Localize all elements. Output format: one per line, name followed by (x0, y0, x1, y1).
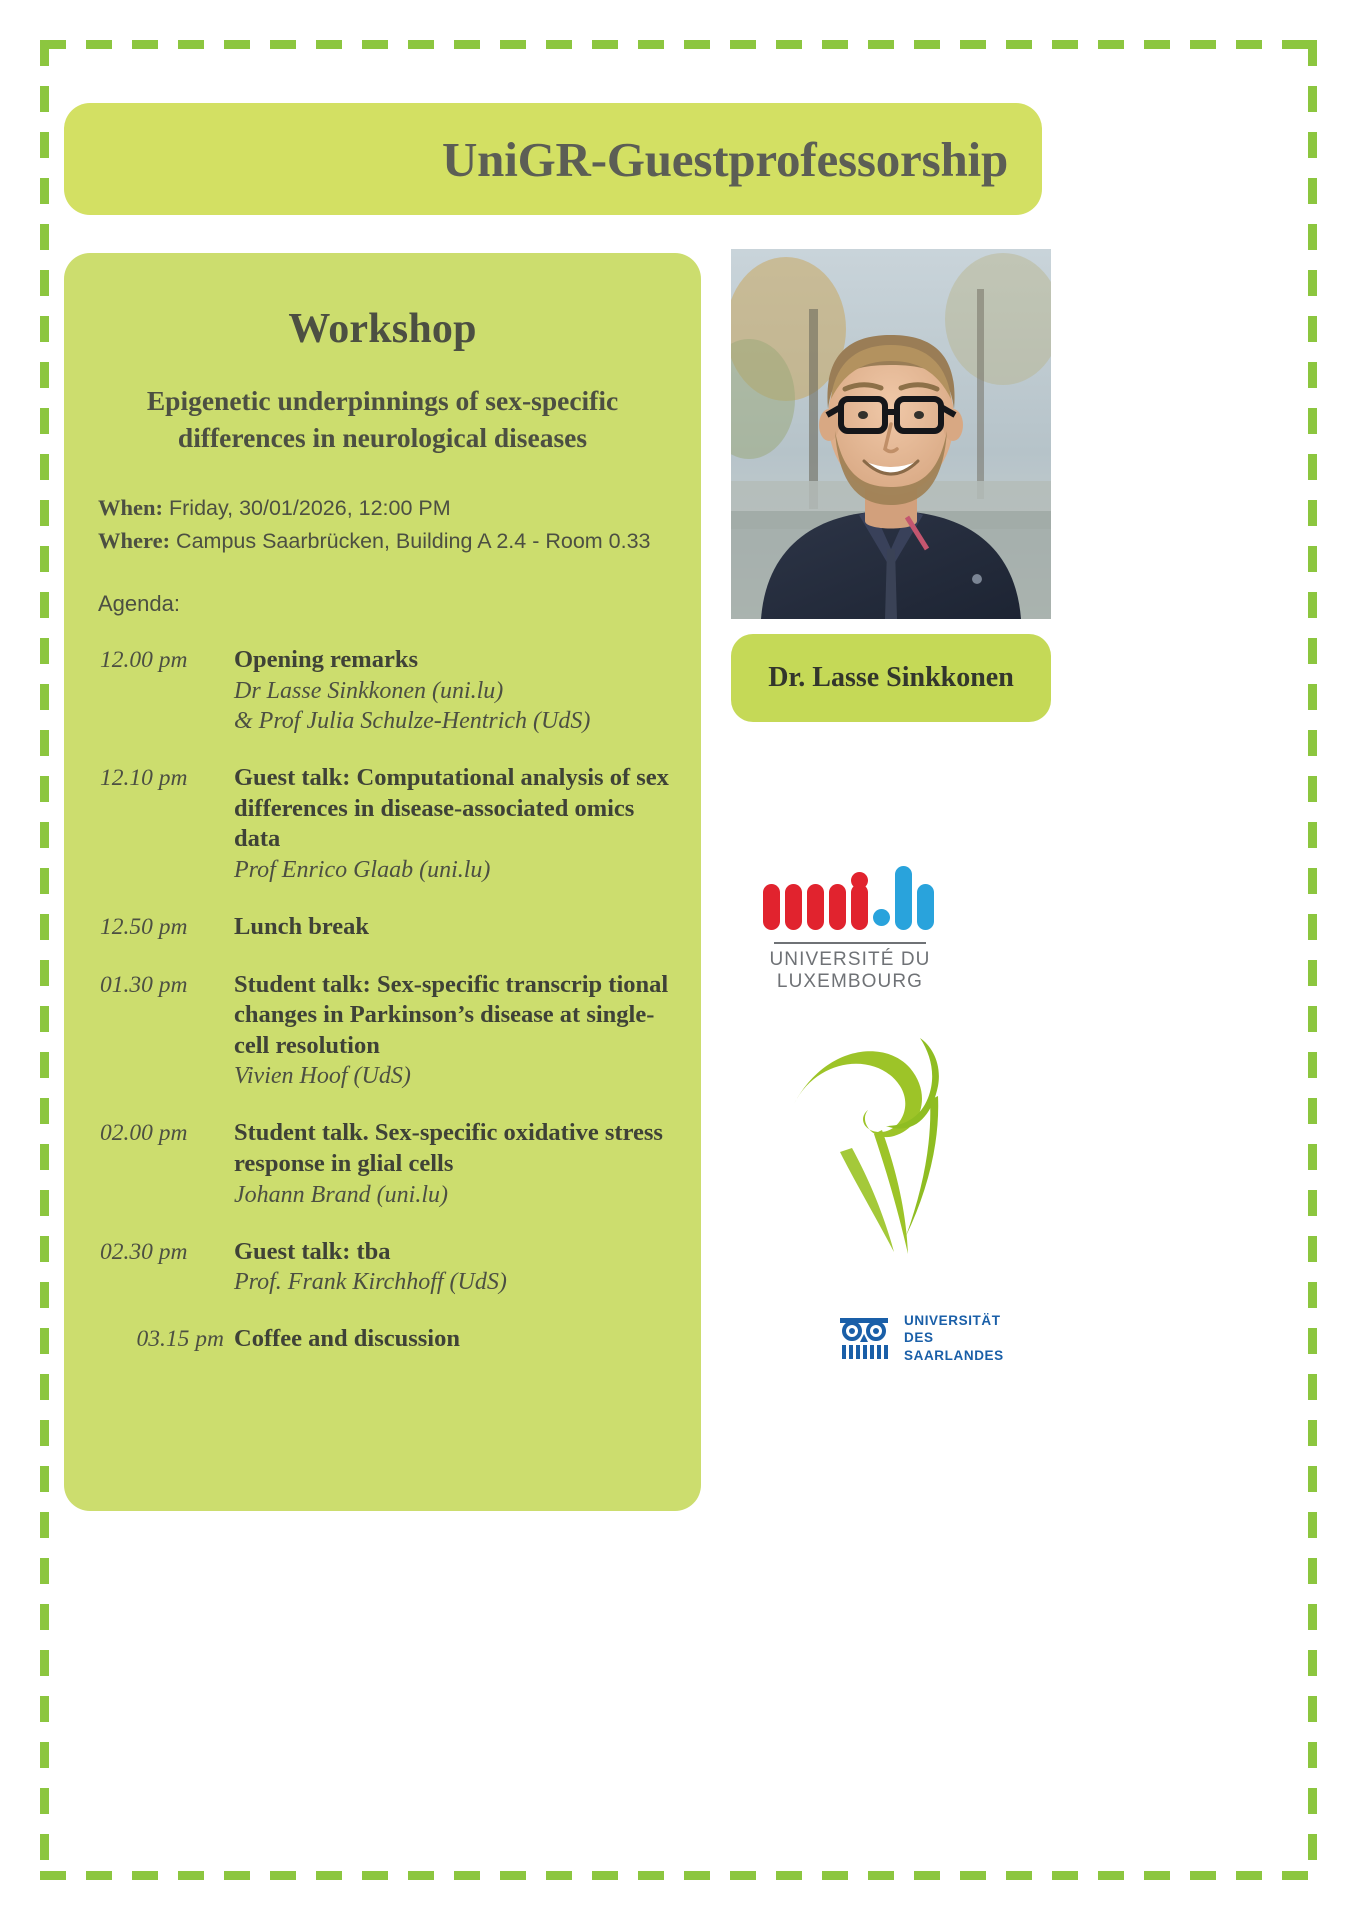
agenda-time: 02.00 pm (100, 1118, 234, 1147)
workshop-title: Epigenetic underpinnings of sex-specific… (96, 383, 669, 456)
owl-icon (836, 1312, 892, 1364)
unilu-subtitle-line1: UNIVERSITÉ DU (750, 949, 950, 971)
agenda-speaker: Prof. Frank Kirchhoff (UdS) (234, 1267, 669, 1297)
agenda-speaker: Johann Brand (uni.lu) (234, 1180, 669, 1210)
agenda-row: 01.30 pm Student talk: Sex-specific tran… (100, 970, 669, 1092)
agenda-row: 12.10 pm Guest talk: Computational analy… (100, 763, 669, 885)
dashed-border-left (40, 40, 49, 1880)
guest-name: Dr. Lasse Sinkkonen (768, 662, 1014, 694)
agenda-row: 12.00 pm Opening remarks Dr Lasse Sinkko… (100, 645, 669, 736)
when-value: Friday, 30/01/2026, 12:00 PM (169, 496, 451, 520)
agenda-time: 01.30 pm (100, 970, 234, 999)
agenda-row: 12.50 pm Lunch break (100, 912, 669, 943)
guest-portrait-photo (731, 249, 1051, 619)
guest-name-badge: Dr. Lasse Sinkkonen (731, 634, 1051, 722)
agenda-time: 02.30 pm (100, 1237, 234, 1266)
agenda-time: 12.00 pm (100, 645, 234, 674)
portrait-illustration (731, 249, 1051, 619)
agenda-list: 12.00 pm Opening remarks Dr Lasse Sinkko… (96, 645, 669, 1355)
agenda-body: Coffee and discussion (234, 1324, 669, 1355)
workshop-kicker: Workshop (96, 305, 669, 353)
agenda-body: Guest talk: Computational analysis of se… (234, 763, 669, 885)
agenda-time: 03.15 pm (100, 1324, 234, 1353)
agenda-row: 03.15 pm Coffee and discussion (100, 1324, 669, 1355)
dashed-border-bottom (40, 1871, 1317, 1880)
agenda-item-title: Guest talk: Computational analysis of se… (234, 763, 669, 855)
uds-line-1: UNIVERSITÄT (904, 1312, 1004, 1329)
poster-root: UniGR-Guestprofessorship Workshop Epigen… (0, 0, 1357, 1920)
swoosh-icon (782, 1030, 972, 1260)
where-value: Campus Saarbrücken, Building A 2.4 - Roo… (176, 529, 650, 553)
agenda-body: Student talk: Sex-specific transcrip tio… (234, 970, 669, 1092)
agenda-row: 02.00 pm Student talk. Sex-specific oxid… (100, 1118, 669, 1209)
event-when-line: When: Friday, 30/01/2026, 12:00 PM (98, 492, 669, 525)
agenda-item-title: Opening remarks (234, 645, 669, 676)
page-title: UniGR-Guestprofessorship (442, 131, 1008, 188)
agenda-speaker: Prof Enrico Glaab (uni.lu) (234, 855, 669, 885)
header-banner: UniGR-Guestprofessorship (64, 103, 1042, 215)
agenda-speaker: & Prof Julia Schulze-Hentrich (UdS) (234, 706, 669, 736)
uds-line-2: DES (904, 1329, 1004, 1346)
where-label: Where: (98, 528, 170, 553)
uds-name-text: UNIVERSITÄT DES SAARLANDES (904, 1312, 1004, 1364)
agenda-item-title: Lunch break (234, 912, 669, 943)
event-details: When: Friday, 30/01/2026, 12:00 PM Where… (96, 492, 669, 557)
unilu-subtitle-line2: LUXEMBOURG (750, 971, 950, 993)
agenda-item-title: Coffee and discussion (234, 1324, 669, 1355)
dashed-border-top (40, 40, 1317, 49)
agenda-row: 02.30 pm Guest talk: tba Prof. Frank Kir… (100, 1237, 669, 1298)
agenda-body: Guest talk: tba Prof. Frank Kirchhoff (U… (234, 1237, 669, 1298)
agenda-body: Student talk. Sex-specific oxidative str… (234, 1118, 669, 1209)
unilu-divider (774, 942, 926, 944)
agenda-body: Lunch break (234, 912, 669, 943)
when-label: When: (98, 495, 163, 520)
agenda-speaker: Dr Lasse Sinkkonen (uni.lu) (234, 676, 669, 706)
unilu-wordmark-icon (763, 866, 938, 938)
main-content-panel: Workshop Epigenetic underpinnings of sex… (64, 253, 701, 1511)
agenda-speaker: Vivien Hoof (UdS) (234, 1061, 669, 1091)
agenda-item-title: Student talk: Sex-specific transcrip tio… (234, 970, 669, 1062)
agenda-label: Agenda: (96, 591, 669, 617)
event-where-line: Where: Campus Saarbrücken, Building A 2.… (98, 525, 669, 558)
agenda-item-title: Student talk. Sex-specific oxidative str… (234, 1118, 669, 1179)
green-swoosh-decoration (782, 1030, 972, 1260)
agenda-time: 12.10 pm (100, 763, 234, 792)
uds-line-3: SAARLANDES (904, 1347, 1004, 1364)
dashed-border-right (1308, 40, 1317, 1880)
university-luxembourg-logo: UNIVERSITÉ DU LUXEMBOURG (750, 866, 950, 1001)
agenda-body: Opening remarks Dr Lasse Sinkkonen (uni.… (234, 645, 669, 736)
saarland-university-logo: UNIVERSITÄT DES SAARLANDES (836, 1307, 1006, 1369)
agenda-time: 12.50 pm (100, 912, 234, 941)
agenda-item-title: Guest talk: tba (234, 1237, 669, 1268)
